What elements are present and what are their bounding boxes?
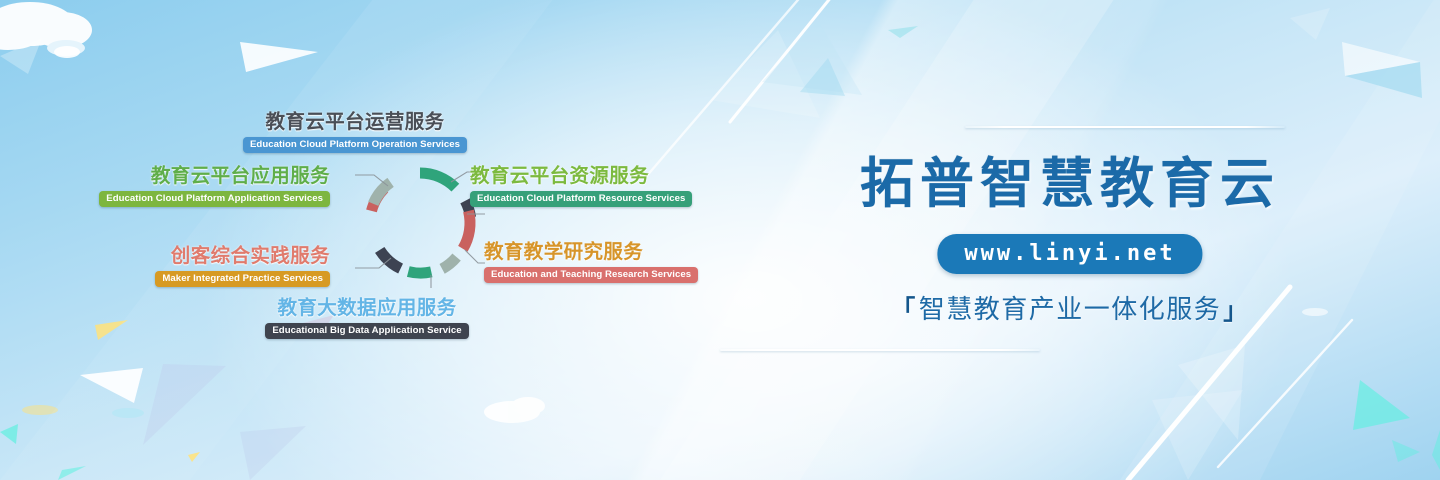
label-bigdata-cn: 教育大数据应用服务 xyxy=(192,298,542,320)
page-title: 拓普智慧教育云 xyxy=(700,156,1440,210)
tagline: 「智慧教育产业一体化服务」 xyxy=(700,289,1440,326)
label-bigdata-en: Educational Big Data Application Service xyxy=(265,323,468,339)
divider-bottom xyxy=(720,349,1040,351)
cloud-icon xyxy=(484,397,545,423)
label-application[interactable]: 教育云平台应用服务 Education Cloud Platform Appli… xyxy=(30,166,330,207)
divider-top xyxy=(965,126,1285,128)
ring-segment-3 xyxy=(454,211,477,249)
triangle-accent xyxy=(0,38,42,74)
triangle-accent xyxy=(143,364,226,445)
label-operation[interactable]: 教育云平台运营服务 Education Cloud Platform Opera… xyxy=(180,112,530,153)
brand-block: 拓普智慧教育云 www.linyi.net 「智慧教育产业一体化服务」 xyxy=(700,0,1440,480)
cloud-icon xyxy=(54,46,80,58)
label-resource-en: Education Cloud Platform Resource Servic… xyxy=(470,191,692,207)
label-operation-cn: 教育云平台运营服务 xyxy=(180,112,530,134)
cloud-icon xyxy=(112,408,144,418)
ring-segment-5 xyxy=(408,271,431,273)
label-application-cn: 教育云平台应用服务 xyxy=(30,166,330,188)
website-url-pill[interactable]: www.linyi.net xyxy=(937,234,1202,274)
triangle-accent xyxy=(188,452,200,462)
service-ring-diagram: 教育云平台运营服务 Education Cloud Platform Opera… xyxy=(150,100,680,360)
label-maker[interactable]: 创客综合实践服务 Maker Integrated Practice Servi… xyxy=(40,246,330,287)
label-bigdata[interactable]: 教育大数据应用服务 Educational Big Data Applicati… xyxy=(192,298,542,339)
cloud-icon xyxy=(0,2,92,56)
label-maker-en: Maker Integrated Practice Services xyxy=(155,271,330,287)
ring-segment-1 xyxy=(420,173,455,188)
website-url-text: www.linyi.net xyxy=(964,241,1175,266)
label-application-en: Education Cloud Platform Application Ser… xyxy=(99,191,330,207)
triangle-accent xyxy=(0,424,18,444)
bracket-open: 「 xyxy=(891,296,917,323)
label-operation-en: Education Cloud Platform Operation Servi… xyxy=(243,137,467,153)
label-maker-cn: 创客综合实践服务 xyxy=(40,246,330,268)
triangle-accent xyxy=(58,466,86,480)
tagline-text: 智慧教育产业一体化服务 xyxy=(919,294,1222,324)
paper-plane-icon xyxy=(240,42,318,72)
triangle-accent xyxy=(95,320,128,340)
promo-banner: 教育云平台运营服务 Education Cloud Platform Opera… xyxy=(0,0,1440,480)
label-research-en: Education and Teaching Research Services xyxy=(484,267,698,283)
ring-segment-4 xyxy=(442,257,457,269)
triangle-accent xyxy=(240,426,306,480)
service-ring-chart xyxy=(355,158,485,288)
cloud-icon xyxy=(22,405,58,415)
triangle-accent xyxy=(80,368,143,403)
bracket-close: 」 xyxy=(1223,298,1249,325)
ring-segment-8 xyxy=(371,182,392,203)
